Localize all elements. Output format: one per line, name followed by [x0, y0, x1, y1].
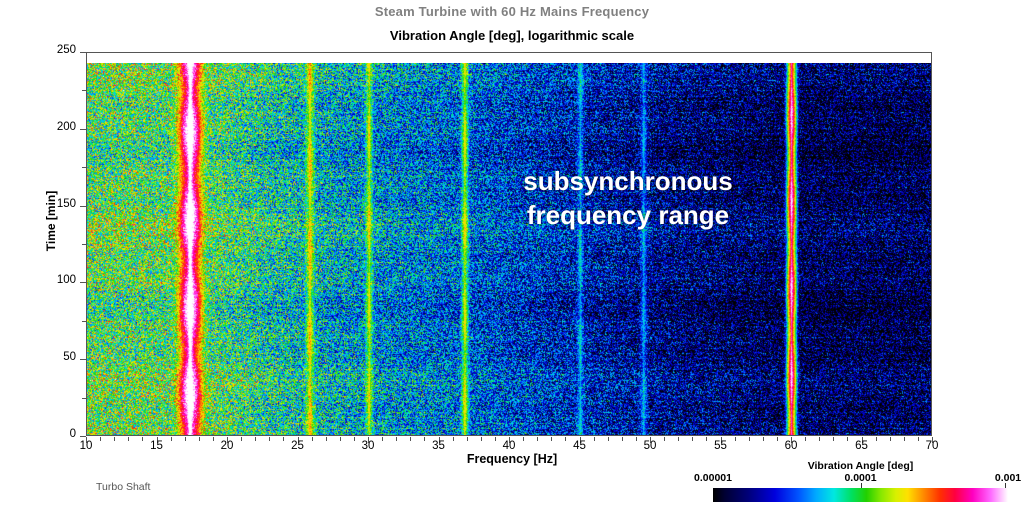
x-tick-minor	[467, 437, 468, 441]
x-tick-minor	[255, 437, 256, 441]
x-tick-label: 35	[419, 440, 459, 452]
x-tick-label: 40	[489, 440, 529, 452]
x-tick-minor	[904, 437, 905, 441]
y-tick-major	[80, 282, 86, 283]
x-tick-minor	[523, 437, 524, 441]
y-tick-major	[80, 52, 86, 53]
x-tick-label: 15	[137, 440, 177, 452]
y-tick-label: 50	[16, 351, 76, 363]
x-tick-minor	[340, 437, 341, 441]
x-tick-minor	[199, 437, 200, 441]
colorbar-tick	[1005, 483, 1006, 488]
x-tick-label: 20	[207, 440, 247, 452]
x-tick-minor	[326, 437, 327, 441]
plot-annotation: subsynchronous frequency range	[468, 164, 788, 233]
x-tick-label: 70	[912, 440, 952, 452]
colorbar-title: Vibration Angle [deg]	[713, 460, 1008, 472]
x-tick-minor	[269, 437, 270, 441]
y-tick-minor	[82, 244, 86, 245]
x-tick-minor	[396, 437, 397, 441]
x-tick-minor	[763, 437, 764, 441]
x-tick-label: 30	[348, 440, 388, 452]
figure-title: Vibration Angle [deg], logarithmic scale	[0, 28, 1024, 43]
y-tick-minor	[82, 398, 86, 399]
x-tick-minor	[100, 437, 101, 441]
colorbar-gradient	[713, 488, 1008, 502]
y-tick-minor	[82, 321, 86, 322]
y-tick-label: 150	[16, 198, 76, 210]
annotation-line-1: subsynchronous	[468, 164, 788, 198]
annotation-line-2: frequency range	[468, 198, 788, 232]
y-tick-label: 100	[16, 274, 76, 286]
colorbar-tick-label: 0.00001	[668, 472, 758, 484]
spectrogram-canvas	[87, 63, 931, 435]
y-tick-label: 0	[16, 428, 76, 440]
x-tick-label: 55	[701, 440, 741, 452]
y-tick-major	[80, 129, 86, 130]
x-tick-minor	[622, 437, 623, 441]
x-tick-minor	[608, 437, 609, 441]
x-tick-label: 60	[771, 440, 811, 452]
x-tick-minor	[410, 437, 411, 441]
x-tick-minor	[819, 437, 820, 441]
x-tick-label: 45	[560, 440, 600, 452]
y-tick-minor	[82, 167, 86, 168]
y-tick-major	[80, 359, 86, 360]
x-tick-label: 25	[278, 440, 318, 452]
x-tick-minor	[664, 437, 665, 441]
y-tick-minor	[82, 90, 86, 91]
x-tick-minor	[312, 437, 313, 441]
figure-root: Steam Turbine with 60 Hz Mains Frequency…	[0, 0, 1024, 512]
plot-area	[86, 52, 932, 436]
x-tick-minor	[453, 437, 454, 441]
x-tick-minor	[185, 437, 186, 441]
x-tick-minor	[594, 437, 595, 441]
y-tick-label: 250	[16, 44, 76, 56]
footer-label: Turbo Shaft	[96, 481, 150, 493]
x-tick-label: 50	[630, 440, 670, 452]
x-tick-minor	[876, 437, 877, 441]
colorbar-tick-label: 0.001	[963, 472, 1024, 484]
x-tick-minor	[890, 437, 891, 441]
x-tick-minor	[537, 437, 538, 441]
x-tick-minor	[114, 437, 115, 441]
colorbar-tick	[861, 483, 862, 488]
x-tick-minor	[678, 437, 679, 441]
figure-supertitle: Steam Turbine with 60 Hz Mains Frequency	[0, 4, 1024, 19]
x-tick-label: 10	[66, 440, 106, 452]
y-tick-label: 200	[16, 121, 76, 133]
x-tick-minor	[833, 437, 834, 441]
x-tick-minor	[805, 437, 806, 441]
x-tick-minor	[128, 437, 129, 441]
spectrogram-heatmap	[87, 63, 931, 435]
x-tick-minor	[241, 437, 242, 441]
x-tick-minor	[551, 437, 552, 441]
x-tick-minor	[382, 437, 383, 441]
y-axis-label: Time [min]	[44, 161, 58, 281]
x-tick-minor	[735, 437, 736, 441]
y-tick-major	[80, 206, 86, 207]
x-tick-label: 65	[842, 440, 882, 452]
x-tick-minor	[692, 437, 693, 441]
x-tick-minor	[481, 437, 482, 441]
x-tick-minor	[171, 437, 172, 441]
x-tick-minor	[749, 437, 750, 441]
